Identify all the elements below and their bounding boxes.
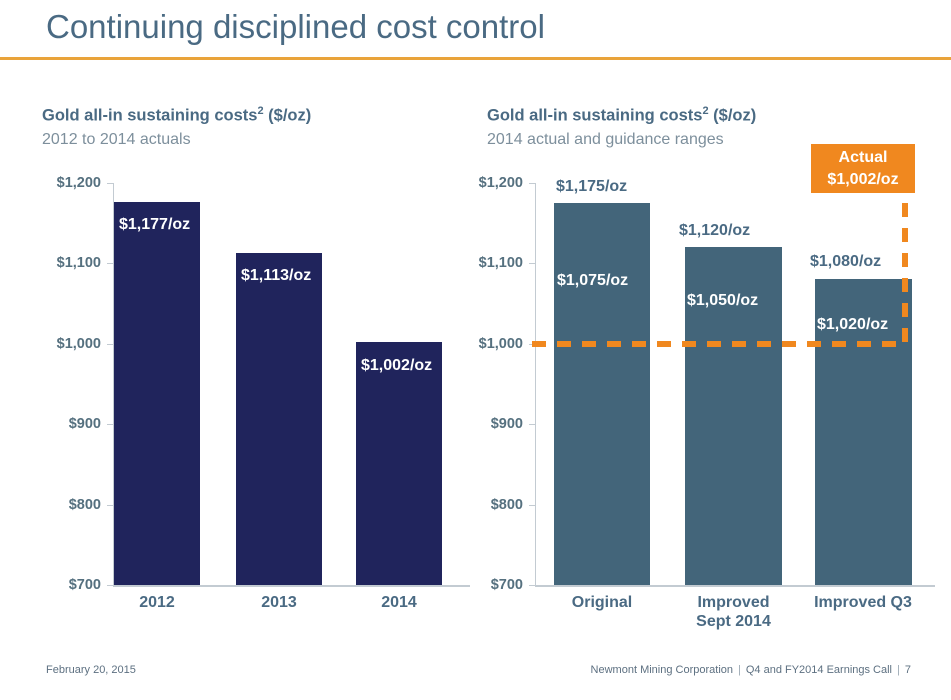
page-title: Continuing disciplined cost control xyxy=(46,8,545,46)
right-bar-original[interactable] xyxy=(554,203,650,585)
left-ytick-label-1100: $1,100 xyxy=(20,255,101,271)
right-ytick-800 xyxy=(529,505,536,506)
title-divider-rule xyxy=(0,57,951,60)
right-bar-low-label-original: $1,075/oz xyxy=(557,272,628,290)
right-ytick-1000 xyxy=(529,344,536,345)
left-ytick-800 xyxy=(107,505,114,506)
footer-separator-1: | xyxy=(733,664,746,676)
right-bar-high-label-original: $1,175/oz xyxy=(556,178,627,196)
right-ytick-700 xyxy=(529,585,536,586)
left-bar-label-2012: $1,177/oz xyxy=(119,216,190,234)
right-bar-low-label-improved-sept-2014: $1,050/oz xyxy=(687,292,758,310)
right-y-axis-line xyxy=(535,183,536,585)
footer-separator-2: | xyxy=(892,664,905,676)
footer-event: Q4 and FY2014 Earnings Call xyxy=(746,664,892,676)
footer-meta: Newmont Mining Corporation|Q4 and FY2014… xyxy=(591,664,911,676)
footer-date: February 20, 2015 xyxy=(46,664,136,676)
left-x-axis-line xyxy=(113,585,470,587)
right-bar-high-label-improved-q3: $1,080/oz xyxy=(810,253,881,271)
right-xtick-label-improved-q3: Improved Q3 xyxy=(809,593,917,612)
left-xtick-label-2013: 2013 xyxy=(236,593,322,612)
left-plot-area: $1,200 $1,100 $1,000 $900 $800 $700 $1,1… xyxy=(20,100,470,645)
right-ytick-label-1100: $1,100 xyxy=(443,255,523,271)
right-ytick-label-900: $900 xyxy=(443,416,523,432)
right-xtick-label-original: Original xyxy=(554,593,650,612)
right-ytick-label-1000: $1,000 xyxy=(443,336,523,352)
right-xtick-label-improved-sept-2014: Improved Sept 2014 xyxy=(685,593,782,631)
left-ytick-label-800: $800 xyxy=(20,497,101,513)
right-ytick-label-1200: $1,200 xyxy=(443,175,523,191)
actual-callout-line1: Actual xyxy=(811,147,915,169)
left-bar-2014[interactable] xyxy=(356,342,442,585)
right-ytick-label-700: $700 xyxy=(443,577,523,593)
left-ytick-label-1200: $1,200 xyxy=(20,175,101,191)
left-ytick-label-700: $700 xyxy=(20,577,101,593)
left-chart-panel: Gold all-in sustaining costs2 ($/oz) 201… xyxy=(20,100,470,645)
left-bar-label-2014: $1,002/oz xyxy=(361,357,432,375)
left-ytick-label-900: $900 xyxy=(20,416,101,432)
right-ytick-label-800: $800 xyxy=(443,497,523,513)
left-bar-2013[interactable] xyxy=(236,253,322,585)
left-bar-2012[interactable] xyxy=(114,202,200,585)
left-ytick-900 xyxy=(107,424,114,425)
right-ytick-900 xyxy=(529,424,536,425)
left-ytick-1200 xyxy=(107,183,114,184)
left-ytick-1000 xyxy=(107,344,114,345)
right-bar-high-label-improved-sept-2014: $1,120/oz xyxy=(679,222,750,240)
left-bar-label-2013: $1,113/oz xyxy=(241,267,311,285)
right-xtick-label-improved-sept-2014-line1: Improved xyxy=(697,594,769,611)
footer-page-number: 7 xyxy=(905,664,911,676)
left-xtick-label-2012: 2012 xyxy=(114,593,200,612)
right-x-axis-line xyxy=(535,585,935,587)
right-ytick-1100 xyxy=(529,263,536,264)
left-ytick-700 xyxy=(107,585,114,586)
right-ytick-1200 xyxy=(529,183,536,184)
right-bar-low-label-improved-q3: $1,020/oz xyxy=(817,316,888,334)
right-xtick-label-improved-sept-2014-line2: Sept 2014 xyxy=(696,613,771,630)
left-ytick-label-1000: $1,000 xyxy=(20,336,101,352)
actual-callout-line2: $1,002/oz xyxy=(811,169,915,191)
actual-callout-box: Actual $1,002/oz xyxy=(811,144,915,193)
footer-company: Newmont Mining Corporation xyxy=(591,664,733,676)
left-xtick-label-2014: 2014 xyxy=(356,593,442,612)
left-ytick-1100 xyxy=(107,263,114,264)
